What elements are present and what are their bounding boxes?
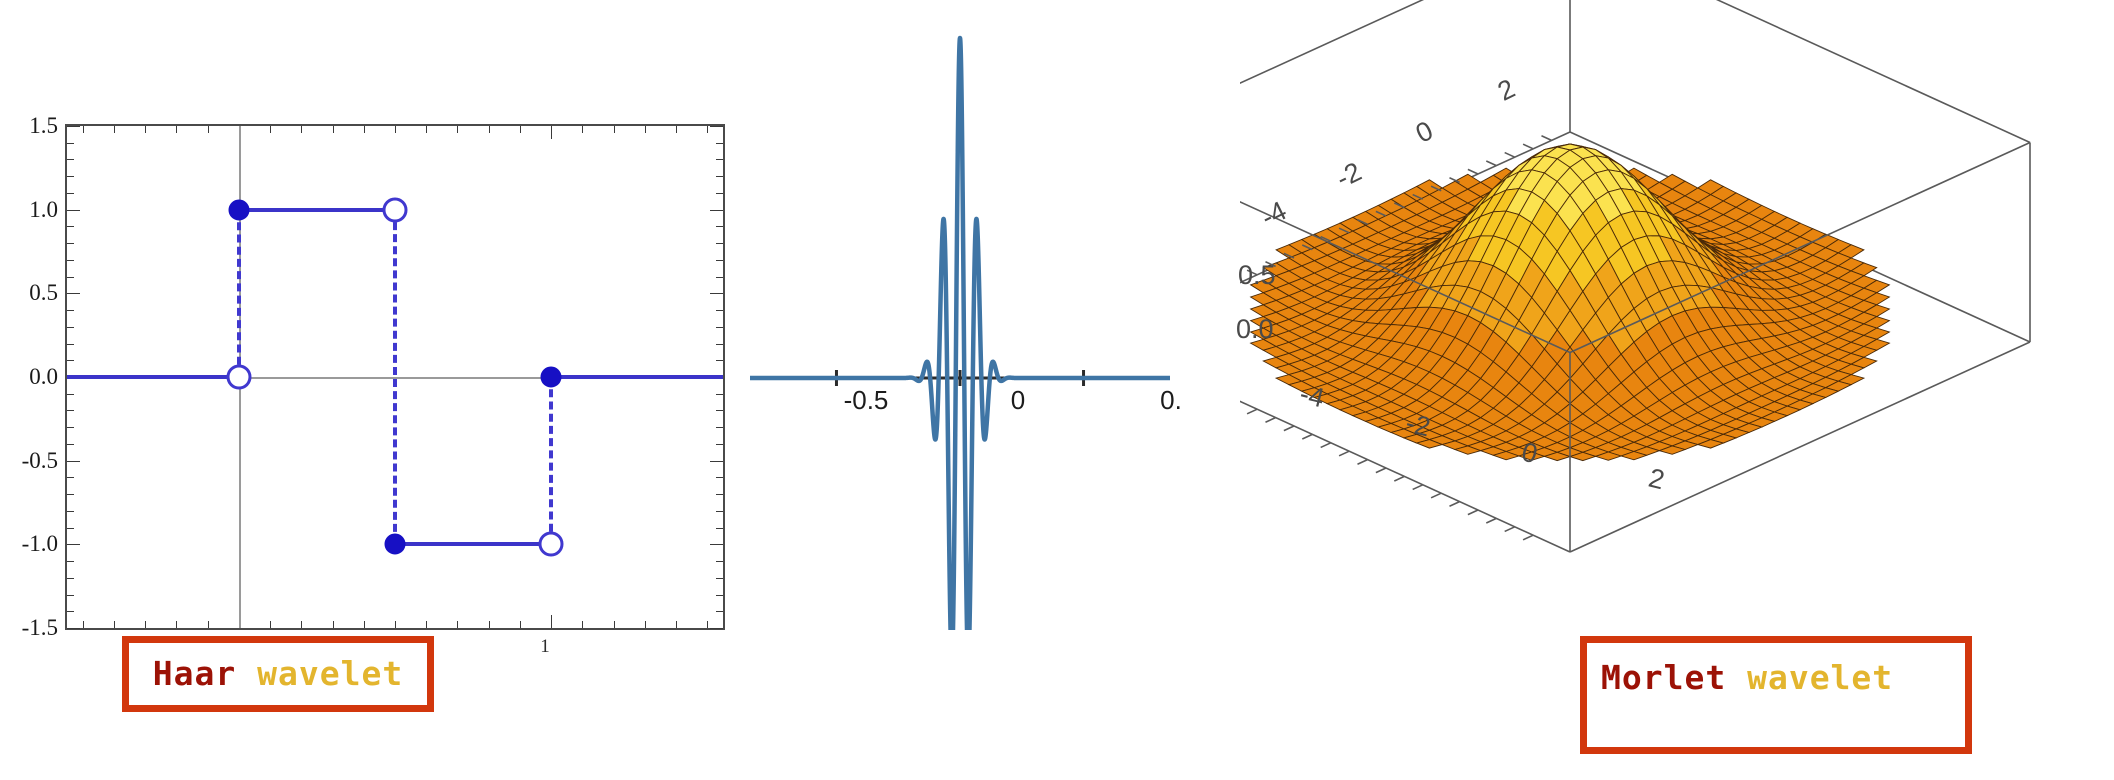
haar-x-tick xyxy=(582,126,583,133)
morlet-plot-svg xyxy=(740,10,1240,630)
mexican-hat-x-tick xyxy=(1505,527,1515,532)
haar-x-tick xyxy=(208,126,209,133)
haar-y-tick xyxy=(716,477,723,478)
haar-y-tick xyxy=(716,595,723,596)
haar-y-tick xyxy=(716,410,723,411)
haar-x-tick xyxy=(114,126,115,133)
haar-x-tick xyxy=(489,621,490,628)
haar-y-tick xyxy=(716,360,723,361)
haar-y-tick xyxy=(67,427,74,428)
haar-x-tick xyxy=(426,621,427,628)
haar-y-tick xyxy=(716,226,723,227)
mexican-hat-box-edge xyxy=(1570,0,2030,143)
haar-y-tick xyxy=(67,494,74,495)
mexican-hat-x-tick xyxy=(1449,502,1459,507)
mexican-hat-x-tick xyxy=(1413,485,1423,490)
haar-y-tick xyxy=(716,327,723,328)
mexican-hat-x-tick xyxy=(1265,418,1275,423)
haar-ytick-label: -1.5 xyxy=(22,615,58,641)
haar-ytick-label: 1.0 xyxy=(29,197,58,223)
haar-x-tick xyxy=(395,126,396,133)
haar-y-tick xyxy=(67,293,80,294)
haar-x-tick xyxy=(707,126,708,133)
haar-x-tick xyxy=(457,621,458,628)
haar-y-tick xyxy=(716,176,723,177)
mexican-hat-x-tick xyxy=(1339,451,1349,456)
haar-x-tick xyxy=(426,126,427,133)
morlet-xtick-label-05: 0. xyxy=(1160,385,1182,416)
haar-y-tick xyxy=(716,243,723,244)
morlet-wavelet-panel: -0.5 0 0. Morlet wavelet xyxy=(740,0,1240,780)
haar-y-tick xyxy=(67,159,74,160)
haar-xtick-label-1: 1 xyxy=(540,636,550,658)
mexican-hat-x-tick xyxy=(1321,443,1331,448)
haar-y-tick xyxy=(67,327,74,328)
haar-x-tick xyxy=(457,126,458,133)
haar-closed-point xyxy=(385,534,406,555)
haar-segment xyxy=(239,208,395,212)
morlet-curve xyxy=(750,38,1170,630)
haar-ytick-label: -1.0 xyxy=(22,531,58,557)
mexican-hat-box-edge xyxy=(1240,0,1570,143)
haar-wavelet-panel: 1.5 1.0 0.5 0.0 -0.5 -1.0 -1.5 0 1 Haar … xyxy=(0,0,740,780)
haar-y-tick xyxy=(67,544,80,545)
haar-y-tick xyxy=(67,578,74,579)
haar-y-tick xyxy=(716,277,723,278)
haar-y-tick xyxy=(67,344,74,345)
haar-y-tick xyxy=(716,511,723,512)
haar-y-tick xyxy=(67,126,80,127)
haar-y-tick xyxy=(67,477,74,478)
haar-y-tick xyxy=(67,628,80,629)
mexican-hat-y-tick xyxy=(1468,169,1478,174)
haar-segment xyxy=(551,375,723,379)
haar-y-tick xyxy=(716,494,723,495)
haar-x-tick xyxy=(333,621,334,628)
haar-x-tick xyxy=(645,621,646,628)
haar-y-tick xyxy=(710,461,723,462)
haar-x-tick xyxy=(395,621,396,628)
mexican-hat-y-tick xyxy=(1541,136,1551,141)
haar-y-tick xyxy=(67,210,80,211)
mexican-hat-surface-svg xyxy=(1240,0,2114,640)
haar-y-tick xyxy=(67,260,74,261)
mexican-hat-ztick-label-05: 0.5 xyxy=(1238,260,1276,291)
haar-y-tick xyxy=(67,360,74,361)
haar-y-tick xyxy=(67,310,74,311)
haar-y-tick xyxy=(716,394,723,395)
haar-caption-text: Haar wavelet xyxy=(153,653,403,694)
haar-y-tick xyxy=(67,444,74,445)
haar-y-tick xyxy=(710,126,723,127)
haar-y-tick xyxy=(67,176,74,177)
morlet-xtick-label-0: 0 xyxy=(1011,385,1025,416)
haar-x-tick xyxy=(551,126,552,139)
haar-dashed-connector xyxy=(549,377,553,544)
haar-y-tick xyxy=(716,427,723,428)
haar-x-tick xyxy=(270,126,271,133)
haar-plot-frame: 1.5 1.0 0.5 0.0 -0.5 -1.0 -1.5 xyxy=(65,124,725,630)
haar-x-tick xyxy=(614,126,615,133)
mexican-hat-x-tick xyxy=(1394,476,1404,481)
haar-y-tick xyxy=(67,461,80,462)
morlet-xtick-label-neg05: -0.5 xyxy=(844,385,889,416)
mexican-hat-panel: -4 -2 0 2 0.5 0.0 -4 -2 0 2 Mexican hat … xyxy=(1240,0,2114,780)
haar-y-tick xyxy=(716,444,723,445)
haar-y-tick xyxy=(716,578,723,579)
haar-dashed-connector xyxy=(237,210,241,377)
mexican-hat-y-tick xyxy=(1486,161,1496,166)
haar-caption-word2: wavelet xyxy=(236,654,403,693)
haar-x-tick xyxy=(676,126,677,133)
haar-caption-word1: Haar xyxy=(153,654,236,693)
haar-open-point xyxy=(226,365,251,390)
haar-y-tick xyxy=(716,344,723,345)
haar-x-tick xyxy=(83,126,84,133)
mexican-hat-x-tick xyxy=(1284,426,1294,431)
haar-segment xyxy=(395,542,551,546)
mexican-hat-x-tick xyxy=(1486,518,1496,523)
haar-y-tick xyxy=(716,611,723,612)
haar-x-tick xyxy=(614,621,615,628)
mexican-hat-x-tick xyxy=(1468,510,1478,515)
haar-y-tick xyxy=(716,310,723,311)
haar-y-tick xyxy=(67,394,74,395)
haar-x-tick xyxy=(520,126,521,133)
haar-x-tick xyxy=(333,126,334,133)
haar-x-tick xyxy=(208,621,209,628)
haar-y-tick xyxy=(67,561,74,562)
haar-y-tick xyxy=(710,544,723,545)
haar-x-tick xyxy=(301,126,302,133)
haar-y-tick xyxy=(710,628,723,629)
haar-y-tick xyxy=(716,159,723,160)
haar-y-tick xyxy=(67,143,74,144)
haar-y-tick xyxy=(67,528,74,529)
haar-y-tick xyxy=(716,193,723,194)
haar-y-tick xyxy=(710,293,723,294)
haar-y-tick xyxy=(710,210,723,211)
haar-x-tick xyxy=(707,621,708,628)
haar-y-tick xyxy=(67,410,74,411)
haar-ytick-label: -0.5 xyxy=(22,448,58,474)
mexican-hat-x-tick xyxy=(1302,434,1312,439)
mexican-hat-x-tick xyxy=(1357,460,1367,465)
haar-dashed-connector xyxy=(393,210,397,545)
mexican-hat-x-tick xyxy=(1247,409,1257,414)
haar-y-tick xyxy=(67,193,74,194)
haar-x-tick xyxy=(582,621,583,628)
haar-x-tick xyxy=(364,621,365,628)
haar-x-tick xyxy=(364,126,365,133)
mexican-hat-ztick-label-00: 0.0 xyxy=(1236,314,1274,345)
haar-x-tick xyxy=(176,621,177,628)
mexican-hat-y-tick xyxy=(1523,144,1533,149)
haar-y-tick xyxy=(716,528,723,529)
haar-x-tick xyxy=(676,621,677,628)
mexican-hat-x-tick xyxy=(1523,535,1533,540)
haar-y-tick xyxy=(67,243,74,244)
haar-y-tick xyxy=(716,260,723,261)
haar-x-tick xyxy=(176,126,177,133)
mexican-hat-x-tick xyxy=(1431,493,1441,498)
haar-segment xyxy=(67,375,239,379)
haar-x-tick xyxy=(114,621,115,628)
haar-closed-point xyxy=(228,199,249,220)
haar-x-tick xyxy=(489,126,490,133)
haar-y-tick xyxy=(716,561,723,562)
haar-open-point xyxy=(539,532,564,557)
haar-x-tick xyxy=(301,621,302,628)
haar-y-tick xyxy=(67,277,74,278)
haar-x-tick xyxy=(551,615,552,628)
haar-closed-point xyxy=(541,367,562,388)
mexican-hat-x-tick xyxy=(1376,468,1386,473)
haar-caption-box: Haar wavelet xyxy=(122,636,434,712)
haar-x-tick xyxy=(270,621,271,628)
haar-ytick-label: 1.5 xyxy=(29,113,58,139)
haar-y-tick xyxy=(67,595,74,596)
haar-x-tick xyxy=(145,126,146,133)
haar-x-tick xyxy=(145,621,146,628)
haar-y-tick xyxy=(67,611,74,612)
haar-x-tick xyxy=(645,126,646,133)
haar-y-tick xyxy=(67,511,74,512)
haar-y-tick xyxy=(67,226,74,227)
haar-ytick-label: 0.0 xyxy=(29,364,58,390)
haar-y-tick xyxy=(716,143,723,144)
haar-x-tick xyxy=(83,621,84,628)
haar-ytick-label: 0.5 xyxy=(29,280,58,306)
haar-x-tick xyxy=(520,621,521,628)
haar-open-point xyxy=(383,197,408,222)
mexican-hat-y-tick xyxy=(1505,153,1515,158)
